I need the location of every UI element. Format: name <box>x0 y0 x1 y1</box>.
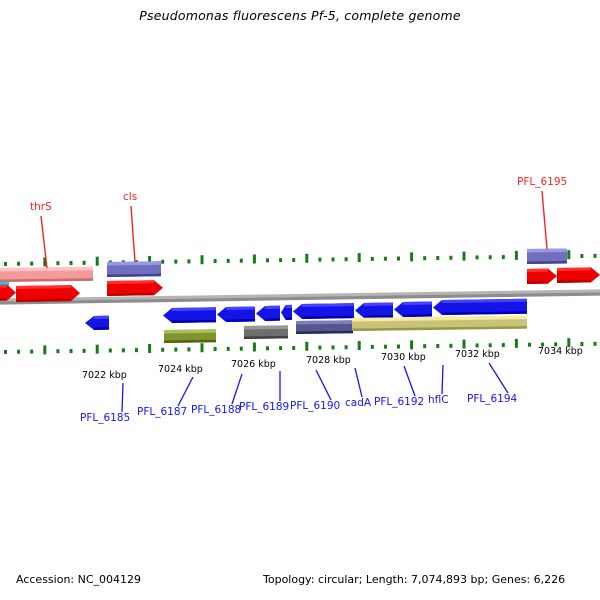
tick-mark <box>214 259 217 263</box>
tick-mark <box>17 350 20 354</box>
feature-shadow <box>94 327 109 330</box>
tick-mark <box>515 251 518 260</box>
tick-mark <box>109 348 112 352</box>
tick-mark <box>318 346 321 350</box>
tick-mark <box>201 343 204 352</box>
tick-mark <box>502 343 505 347</box>
tick-mark <box>279 346 282 350</box>
tick-mark <box>70 349 73 353</box>
red-arrow-pfl6195b[interactable] <box>557 267 600 283</box>
leader-line <box>316 370 331 400</box>
blue-arrow-6187[interactable] <box>163 307 216 323</box>
gene-label-cada[interactable]: cadA <box>345 397 372 409</box>
tick-mark <box>174 260 177 264</box>
ruler-labels: 7022 kbp7024 kbp7026 kbp7028 kbp7030 kbp… <box>82 346 583 381</box>
feature-highlight <box>527 248 567 252</box>
gene-label-pfl_6194[interactable]: PFL_6194 <box>467 393 518 405</box>
genome-map-canvas[interactable]: 7022 kbp7024 kbp7026 kbp7028 kbp7030 kbp… <box>0 0 600 600</box>
leader-line <box>122 383 123 412</box>
ruler-tick-label: 7022 kbp <box>82 370 127 381</box>
feature-shadow <box>226 319 255 322</box>
tick-mark <box>515 339 518 348</box>
gene-label-pfl_6189[interactable]: PFL_6189 <box>239 401 289 413</box>
tick-mark <box>371 257 374 261</box>
tick-mark <box>423 256 426 260</box>
feature-highlight <box>527 269 548 272</box>
gene-label-pfl_6185[interactable]: PFL_6185 <box>80 412 130 424</box>
thrS-pink-bar[interactable] <box>0 267 93 282</box>
tick-mark <box>30 262 33 266</box>
tick-mark <box>305 342 308 351</box>
blue-arrow-cadA[interactable] <box>355 302 393 318</box>
gene-label-pfl_6192[interactable]: PFL_6192 <box>374 396 424 408</box>
leader-line <box>178 377 193 406</box>
gene-label-thrs[interactable]: thrS <box>30 201 52 213</box>
tick-mark <box>410 340 413 349</box>
tick-mark <box>528 343 531 347</box>
tick-mark <box>371 345 374 349</box>
tick-mark <box>266 346 269 350</box>
leader-line <box>232 374 242 404</box>
tick-mark <box>567 250 570 259</box>
blue-arrow-6189[interactable] <box>256 306 280 321</box>
red-arrow-pfl6195a[interactable] <box>527 269 557 284</box>
tick-mark <box>305 254 308 263</box>
ruler-tick-label: 7032 kbp <box>455 349 500 360</box>
tick-mark <box>187 259 190 263</box>
tick-mark <box>96 345 99 354</box>
feature-shadow <box>286 317 292 320</box>
tick-mark <box>122 348 125 352</box>
tick-mark <box>240 259 243 263</box>
tick-mark <box>332 257 335 261</box>
feature-shadow <box>403 314 432 317</box>
gene-label-pfl_6187[interactable]: PFL_6187 <box>137 406 187 418</box>
tick-mark <box>148 344 151 353</box>
ruler-tick-label: 7034 kbp <box>538 346 583 357</box>
leader-line <box>404 366 415 396</box>
feature-shadow <box>527 281 548 284</box>
tick-mark <box>397 345 400 349</box>
ruler-tick-label: 7028 kbp <box>306 355 351 366</box>
tick-mark <box>397 257 400 261</box>
tick-mark <box>476 255 479 259</box>
cls-purple-bar[interactable] <box>107 261 161 277</box>
tick-mark <box>449 344 452 348</box>
tick-row-top <box>4 250 597 266</box>
olive-domain[interactable] <box>164 329 216 343</box>
tick-mark <box>266 258 269 262</box>
feature-shadow <box>265 318 280 321</box>
tick-mark <box>174 348 177 352</box>
tick-mark <box>463 252 466 261</box>
tick-mark <box>318 258 321 262</box>
tick-mark <box>56 349 59 353</box>
tick-mark <box>214 347 217 351</box>
tick-mark <box>449 256 452 260</box>
tick-mark <box>161 348 164 352</box>
blue-arrow-6190[interactable] <box>293 303 354 319</box>
tick-mark <box>30 350 33 354</box>
gene-label-pfl_6195[interactable]: PFL_6195 <box>517 176 567 188</box>
tick-mark <box>476 343 479 347</box>
tick-mark <box>227 259 230 263</box>
tick-mark <box>358 253 361 262</box>
tick-mark <box>358 341 361 350</box>
tick-mark <box>240 347 243 351</box>
feature-shadow <box>0 298 7 301</box>
tick-mark <box>384 257 387 261</box>
tan-domain[interactable] <box>352 316 527 331</box>
feature-highlight <box>265 306 280 309</box>
tick-mark <box>253 255 256 264</box>
red-arrow-cls[interactable] <box>107 280 163 296</box>
tick-mark <box>345 345 348 349</box>
tick-mark <box>4 262 7 266</box>
tick-mark <box>436 256 439 260</box>
tick-mark <box>594 254 597 258</box>
feature-highlight <box>286 305 292 308</box>
leader-line <box>355 368 362 397</box>
gray-domain[interactable] <box>244 325 288 339</box>
feature-highlight <box>94 316 109 319</box>
feature-highlight <box>0 285 7 288</box>
pfl6195-purple-bar[interactable] <box>527 248 567 264</box>
tick-mark <box>83 261 86 265</box>
leader-line <box>489 363 508 393</box>
blue-arrow-small[interactable] <box>281 305 292 320</box>
tick-mark <box>253 343 256 352</box>
tick-row-bottom <box>4 338 597 354</box>
genome-viewer: Pseudomonas fluorescens Pf-5, complete g… <box>0 0 600 600</box>
ruler-tick-label: 7024 kbp <box>158 364 203 375</box>
tick-mark <box>96 257 99 266</box>
gene-label-group: PFL_6185PFL_6187PFL_6188PFL_6189PFL_6190… <box>80 363 518 424</box>
feature-highlight <box>364 302 393 306</box>
red-label-group: thrSclsPFL_6195 <box>30 176 567 268</box>
tick-mark <box>70 261 73 265</box>
tick-mark <box>502 255 505 259</box>
ruler-tick-label: 7030 kbp <box>381 352 426 363</box>
blue-arrow-6185[interactable] <box>85 316 109 330</box>
tick-mark <box>489 255 492 259</box>
tick-mark <box>292 258 295 262</box>
tick-mark <box>227 347 230 351</box>
leader-line <box>442 365 443 394</box>
tick-mark <box>279 258 282 262</box>
tick-mark <box>4 350 7 354</box>
blue-arrow-6188[interactable] <box>217 306 255 322</box>
gene-label-pfl_6188[interactable]: PFL_6188 <box>191 404 241 416</box>
gene-label-pfl_6190[interactable]: PFL_6190 <box>290 400 340 412</box>
accession-text: Accession: NC_004129 <box>16 573 141 586</box>
gene-label-cls[interactable]: cls <box>123 191 137 203</box>
feature-highlight <box>244 325 288 329</box>
tick-mark <box>594 342 597 346</box>
ruler-tick-label: 7026 kbp <box>231 359 276 370</box>
tick-mark <box>580 254 583 258</box>
purple-domain[interactable] <box>296 320 353 334</box>
tick-mark <box>489 343 492 347</box>
tick-mark <box>332 345 335 349</box>
tick-mark <box>292 346 295 350</box>
tick-mark <box>410 252 413 261</box>
gene-label-hflc[interactable]: hflC <box>428 394 449 406</box>
blue-arrow-6192[interactable] <box>394 301 432 317</box>
blue-arrow-6194[interactable] <box>433 299 527 315</box>
tick-mark <box>56 261 59 265</box>
tick-mark <box>463 340 466 349</box>
leader-line <box>131 206 135 262</box>
tick-mark <box>17 262 20 266</box>
feature-highlight <box>164 329 216 333</box>
tick-mark <box>43 345 46 354</box>
genome-stats-text: Topology: circular; Length: 7,074,893 bp… <box>263 573 565 586</box>
red-arrow-thrS[interactable] <box>16 285 80 302</box>
tick-mark <box>384 345 387 349</box>
tick-mark <box>423 344 426 348</box>
leader-line <box>542 191 547 249</box>
tick-mark <box>135 348 138 352</box>
tick-mark <box>161 260 164 264</box>
feature-highlight <box>403 301 432 305</box>
tick-mark <box>83 349 86 353</box>
feature-highlight <box>557 267 591 271</box>
tick-mark <box>201 255 204 264</box>
tick-mark <box>345 257 348 261</box>
feature-highlight <box>107 261 161 265</box>
tick-mark <box>187 347 190 351</box>
tick-mark <box>436 344 439 348</box>
feature-highlight <box>226 306 255 310</box>
